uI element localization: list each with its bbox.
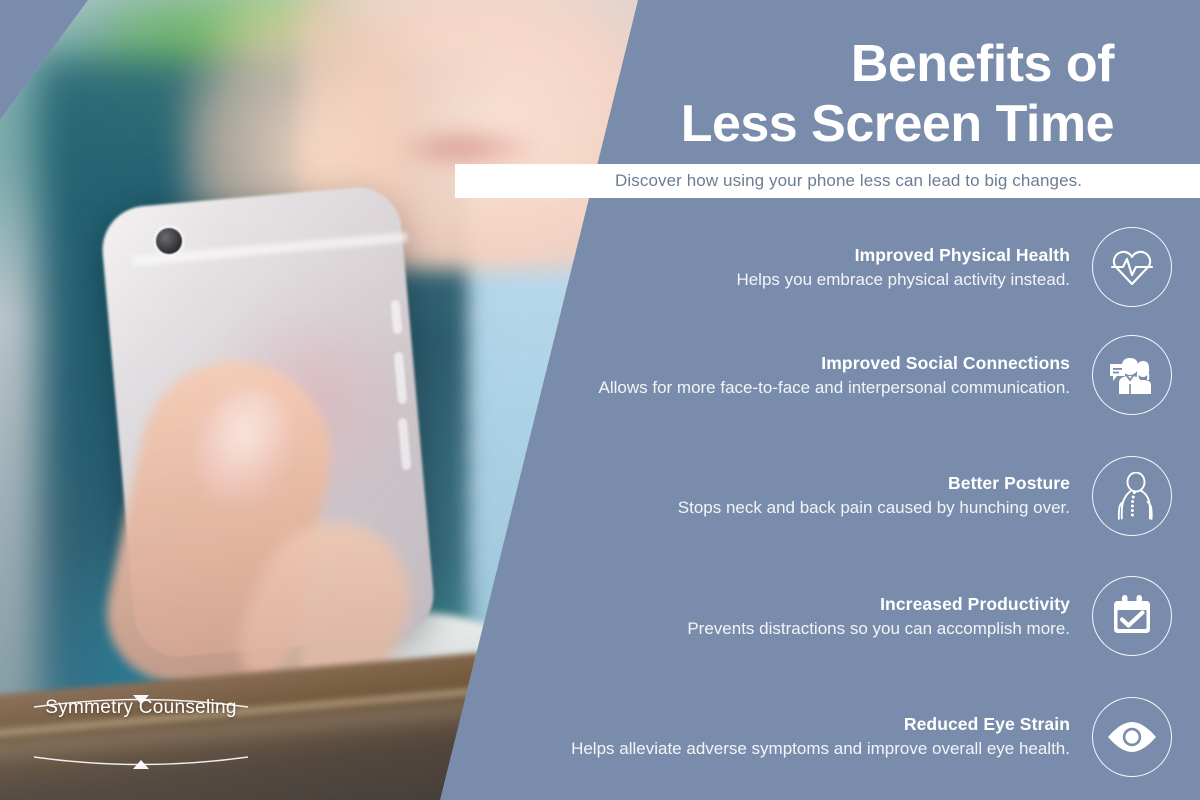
benefit-text: Increased Productivity Prevents distract… [687, 592, 1092, 641]
list-item[interactable]: Reduced Eye Strain Helps alleviate adver… [560, 679, 1200, 794]
benefit-title: Improved Social Connections [599, 351, 1071, 375]
benefit-description: Helps alleviate adverse symptoms and imp… [571, 736, 1070, 761]
list-item[interactable]: Improved Physical Health Helps you embra… [560, 222, 1200, 312]
benefit-text: Reduced Eye Strain Helps alleviate adver… [571, 712, 1092, 761]
heart-pulse-icon [1109, 246, 1155, 288]
list-item[interactable]: Increased Productivity Prevents distract… [560, 559, 1200, 673]
logo-triangle-up-icon [133, 760, 149, 769]
title-line-2: Less Screen Time [594, 94, 1114, 154]
benefit-title: Improved Physical Health [736, 243, 1070, 267]
subtitle-banner: Discover how using your phone less can l… [455, 164, 1200, 198]
list-item[interactable]: Improved Social Connections Allows for m… [560, 318, 1200, 432]
benefit-icon-circle [1092, 227, 1172, 307]
benefit-text: Better Posture Stops neck and back pain … [678, 471, 1092, 520]
benefit-description: Helps you embrace physical activity inst… [736, 267, 1070, 292]
content-panel: Benefits of Less Screen Time Discover ho… [560, 0, 1200, 800]
benefit-title: Better Posture [678, 471, 1070, 495]
calendar-check-icon [1109, 593, 1155, 639]
people-chat-icon [1108, 354, 1156, 396]
eye-icon [1106, 720, 1158, 754]
logo-triangle-down-icon [133, 695, 149, 704]
benefit-description: Prevents distractions so you can accompl… [687, 616, 1070, 641]
benefit-description: Allows for more face-to-face and interpe… [599, 375, 1071, 400]
benefit-description: Stops neck and back pain caused by hunch… [678, 495, 1070, 520]
infographic-canvas: Symmetry Counseling Benefits of Less Scr… [0, 0, 1200, 800]
title-line-1: Benefits of [594, 34, 1114, 94]
benefit-icon-circle [1092, 456, 1172, 536]
benefit-icon-circle [1092, 576, 1172, 656]
subtitle-text: Discover how using your phone less can l… [615, 171, 1082, 191]
benefits-list: Improved Physical Health Helps you embra… [560, 222, 1200, 800]
benefit-icon-circle [1092, 335, 1172, 415]
benefit-text: Improved Social Connections Allows for m… [599, 351, 1093, 400]
spine-posture-icon [1110, 472, 1154, 520]
benefit-icon-circle [1092, 697, 1172, 777]
benefit-text: Improved Physical Health Helps you embra… [736, 243, 1092, 292]
list-item[interactable]: Better Posture Stops neck and back pain … [560, 438, 1200, 553]
brand-logo[interactable]: Symmetry Counseling [22, 694, 260, 770]
page-title: Benefits of Less Screen Time [594, 34, 1114, 154]
benefit-title: Reduced Eye Strain [571, 712, 1070, 736]
benefit-title: Increased Productivity [687, 592, 1070, 616]
